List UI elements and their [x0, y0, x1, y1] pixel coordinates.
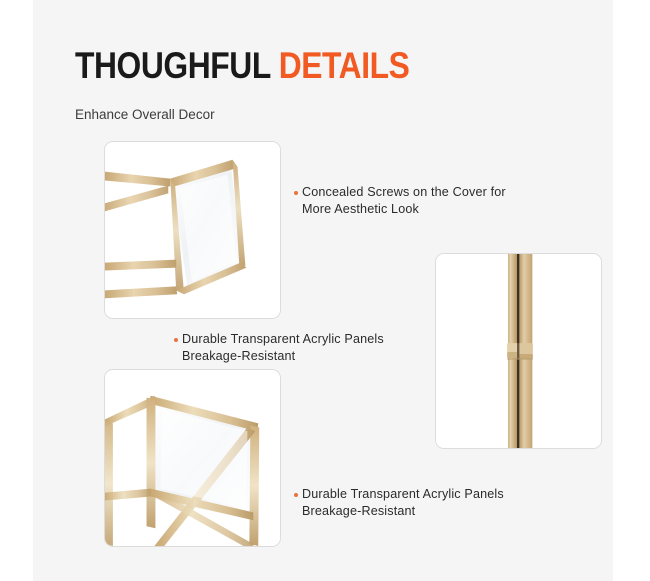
angled-acrylic-panel-illustration	[105, 142, 280, 318]
feature-acrylic-panels-bottom-text: Durable Transparent Acrylic Panels Break…	[302, 486, 504, 520]
concealed-screw-post-illustration	[436, 254, 601, 448]
bullet-dot-icon	[294, 493, 298, 497]
feature-line-1: Concealed Screws on the Cover for	[302, 185, 506, 199]
feature-concealed-screws: Concealed Screws on the Cover for More A…	[294, 184, 554, 218]
page-title: THOUGHFUL DETAILS	[75, 46, 409, 86]
feature-acrylic-panels-bottom: Durable Transparent Acrylic Panels Break…	[294, 486, 564, 520]
page-subtitle: Enhance Overall Decor	[75, 106, 215, 124]
product-image-frame-corner-brace	[104, 369, 281, 547]
feature-line-1: Durable Transparent Acrylic Panels	[302, 487, 504, 501]
page-title-accent: DETAILS	[279, 45, 410, 86]
product-image-angled-acrylic-panel	[104, 141, 281, 319]
product-image-concealed-screw-post	[435, 253, 602, 449]
page-title-primary: THOUGHFUL	[75, 45, 270, 86]
frame-corner-brace-illustration	[105, 370, 280, 546]
feature-line-2: More Aesthetic Look	[302, 202, 419, 216]
bullet-dot-icon	[294, 191, 298, 195]
product-detail-page: THOUGHFUL DETAILS Enhance Overall Decor	[0, 0, 650, 581]
bullet-dot-icon	[174, 338, 178, 342]
feature-acrylic-panels-top-text: Durable Transparent Acrylic Panels Break…	[182, 331, 384, 365]
feature-line-1: Durable Transparent Acrylic Panels	[182, 332, 384, 346]
content-panel: THOUGHFUL DETAILS Enhance Overall Decor	[33, 0, 613, 581]
feature-concealed-screws-text: Concealed Screws on the Cover for More A…	[302, 184, 506, 218]
feature-acrylic-panels-top: Durable Transparent Acrylic Panels Break…	[174, 331, 444, 365]
feature-line-2: Breakage-Resistant	[302, 504, 415, 518]
feature-line-2: Breakage-Resistant	[182, 349, 295, 363]
